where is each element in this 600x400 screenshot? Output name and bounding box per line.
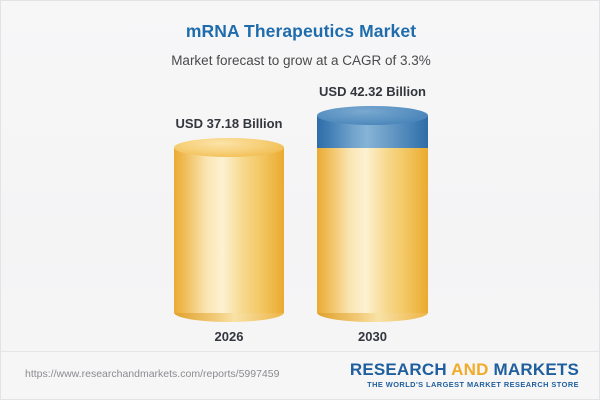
brand-word-markets: MARKETS [494, 360, 579, 379]
bar-category-label-2026: 2026 [215, 329, 244, 344]
bar-category-label-2030: 2030 [358, 329, 387, 344]
brand-word-research: RESEARCH [350, 360, 447, 379]
cylinder-top-ellipse [317, 106, 428, 125]
bar-segment-growth-2030 [317, 116, 428, 313]
bar-chart-plot: USD 37.18 Billion 2026 USD 42.32 Billion… [1, 1, 600, 353]
cylinder-body [174, 148, 284, 313]
source-url[interactable]: https://www.researchandmarkets.com/repor… [25, 368, 279, 380]
brand-word-and: AND [451, 360, 488, 379]
brand-name: RESEARCH AND MARKETS [350, 360, 579, 379]
bar-value-label-2030: USD 42.32 Billion [319, 84, 426, 99]
cylinder-top-ellipse [174, 138, 284, 157]
footer: https://www.researchandmarkets.com/repor… [1, 351, 600, 399]
brand-tagline: THE WORLD'S LARGEST MARKET RESEARCH STOR… [350, 379, 579, 390]
bar-segment-base-2026 [174, 148, 284, 313]
market-infographic: mRNA Therapeutics Market Market forecast… [0, 0, 600, 400]
brand-logo: RESEARCH AND MARKETS THE WORLD'S LARGEST… [350, 360, 579, 390]
bar-value-label-2026: USD 37.18 Billion [176, 116, 283, 131]
